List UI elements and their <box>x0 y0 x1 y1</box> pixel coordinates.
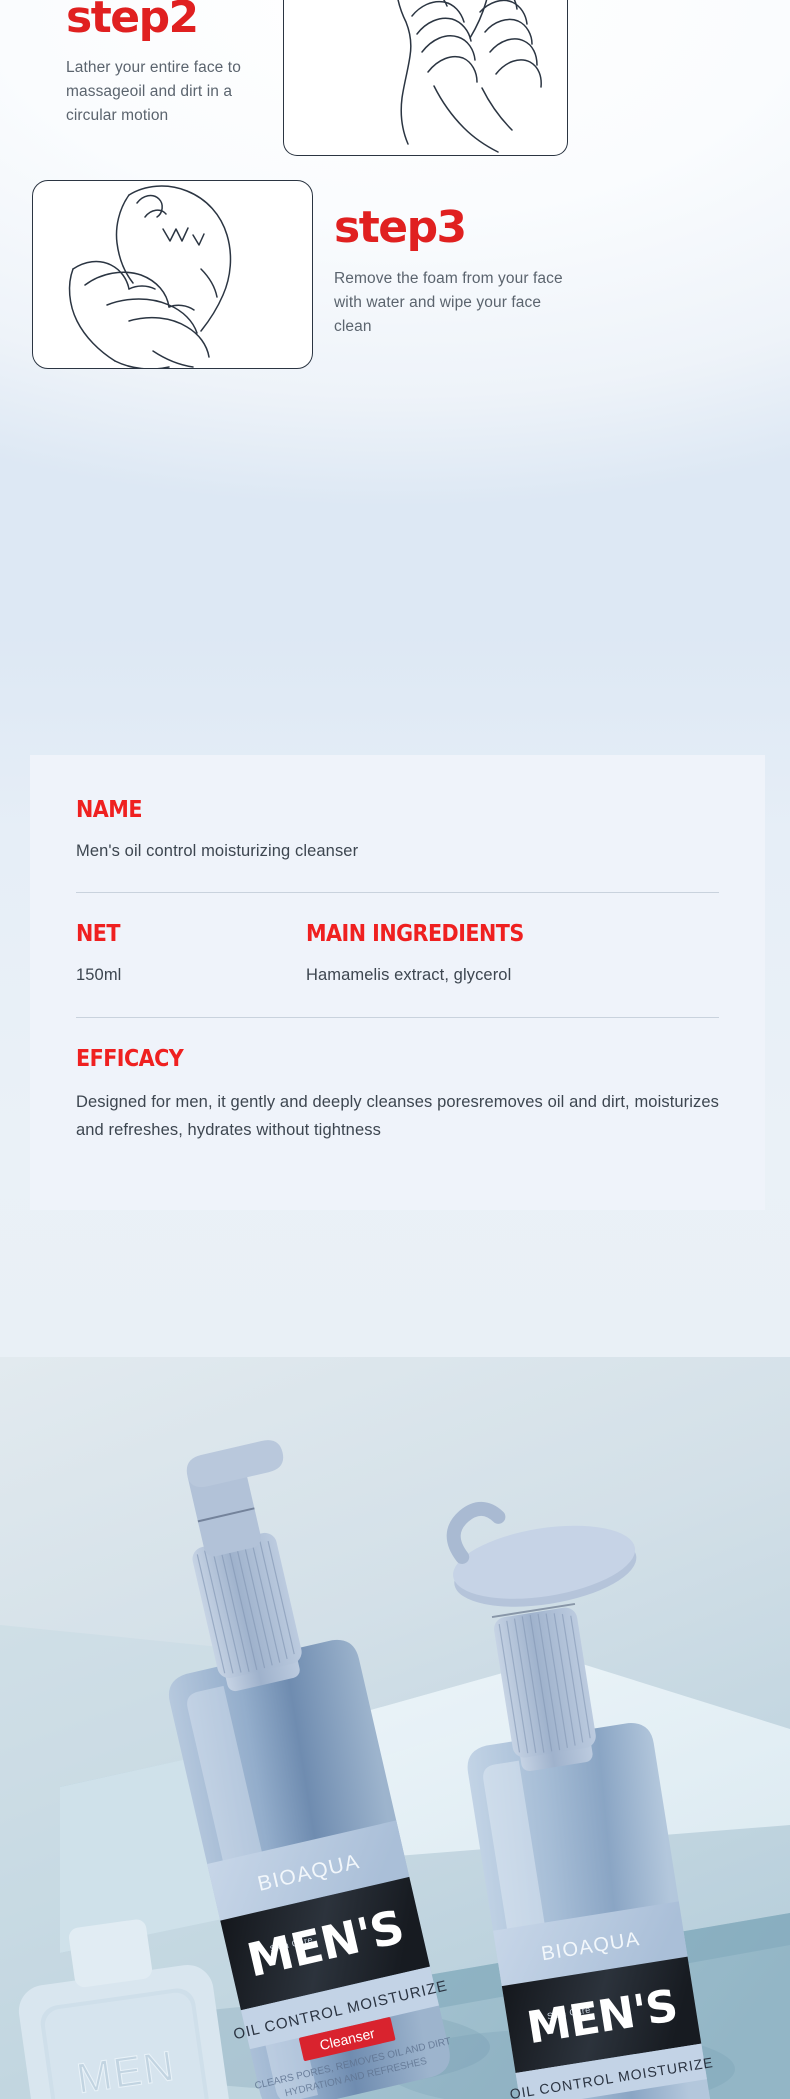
name-label: NAME <box>76 799 655 822</box>
efficacy-value: Designed for men, it gently and deeply c… <box>76 1088 719 1145</box>
net-label: NET <box>76 923 283 946</box>
product-photo-section: BIOAQUA Skin Care MEN'S OIL CONTROL MOIS… <box>0 1357 790 2099</box>
divider-1 <box>76 892 719 893</box>
step2-title: step2 <box>66 0 286 40</box>
product-info-section: NAME Men's oil control moisturizing clea… <box>0 633 790 1357</box>
step3-title: step3 <box>334 206 570 250</box>
step3-body: Remove the foam from your face with wate… <box>334 267 570 339</box>
product-info-card: NAME Men's oil control moisturizing clea… <box>30 755 765 1210</box>
bottle-right-label: BIOAQUA Skin Care MEN'S OIL CONTROL MOIS… <box>484 1900 716 2099</box>
step2-illustration-box <box>283 0 568 156</box>
step3-text-block: step3 Remove the foam from your face wit… <box>334 206 570 339</box>
field-name: NAME Men's oil control moisturizing clea… <box>76 799 719 864</box>
net-value: 150ml <box>76 962 306 988</box>
divider-2 <box>76 1017 719 1018</box>
steps-section: step2 Lather your entire face to massage… <box>0 0 790 633</box>
step3-illustration-box <box>32 180 313 369</box>
step2-text-block: step2 Lather your entire face to massage… <box>66 0 286 128</box>
step2-body: Lather your entire face to massageoil an… <box>66 56 286 128</box>
field-ingredients: MAIN INGREDIENTS Hamamelis extract, glyc… <box>306 923 548 988</box>
net-ingredients-row: NET 150ml MAIN INGREDIENTS Hamamelis ext… <box>76 923 719 988</box>
ingredients-label: MAIN INGREDIENTS <box>306 923 524 946</box>
efficacy-label: EFFICACY <box>76 1048 655 1071</box>
product-bottles-photo: BIOAQUA Skin Care MEN'S OIL CONTROL MOIS… <box>0 1357 790 2099</box>
field-net: NET 150ml <box>76 923 306 988</box>
field-efficacy: EFFICACY Designed for men, it gently and… <box>76 1048 719 1145</box>
hands-lathering-face-illustration <box>284 0 568 156</box>
name-value: Men's oil control moisturizing cleanser <box>76 838 719 864</box>
hand-rinsing-face-illustration <box>33 181 313 369</box>
ingredients-value: Hamamelis extract, glycerol <box>306 962 548 988</box>
product-detail-page: step2 Lather your entire face to massage… <box>0 0 790 2099</box>
